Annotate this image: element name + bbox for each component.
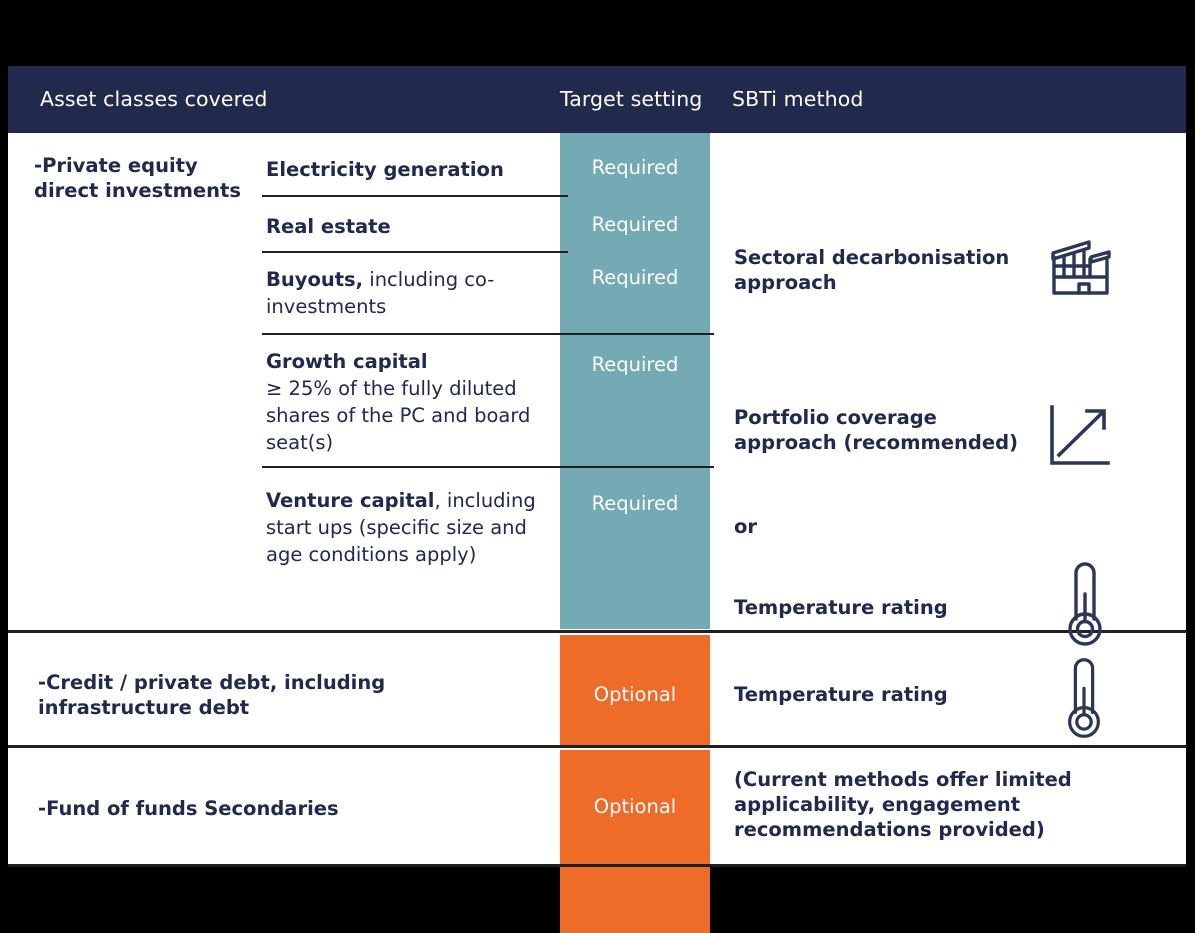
asset-group-fund-of-funds-secondaries: -Fund of funds Secondaries	[38, 796, 558, 821]
asset-group-credit-private-debt: -Credit / private debt, including infras…	[38, 670, 558, 720]
asset-group-credit-private-debt-line1: -Credit / private debt, including	[38, 670, 558, 695]
subrow-label-growth-capital: Growth capital ≥ 25% of the fully dilute…	[266, 348, 566, 456]
group-divider-2	[8, 745, 1186, 748]
sbti-asset-class-table: Asset classes covered Target setting SBT…	[8, 66, 1186, 866]
subrow-divider-buyouts	[262, 333, 714, 335]
table-header-bar: Asset classes covered Target setting SBT…	[8, 66, 1186, 133]
status-fund-of-funds-secondaries: Optional	[560, 795, 710, 818]
subrow-label-venture-capital-bold: Venture capital	[266, 489, 435, 512]
group-divider-1	[8, 630, 1186, 633]
status-venture-capital: Required	[560, 492, 710, 515]
thermometer-icon	[1052, 557, 1122, 651]
subrow-label-electricity-generation-bold: Electricity generation	[266, 158, 504, 181]
column-header-asset-classes: Asset classes covered	[40, 66, 268, 133]
group-divider-3	[8, 864, 1186, 867]
column-header-target-setting: Target setting	[560, 66, 702, 133]
status-buyouts: Required	[560, 266, 710, 289]
building-icon	[1043, 233, 1113, 303]
asset-group-credit-private-debt-line2: infrastructure debt	[38, 695, 558, 720]
method-portfolio-coverage: Portfolio coverage approach (recommended…	[734, 405, 1044, 455]
growth-chart-icon	[1046, 403, 1116, 473]
status-electricity-generation: Required	[560, 156, 710, 179]
subrow-label-electricity-generation: Electricity generation	[266, 156, 556, 183]
subrow-label-growth-capital-rest: ≥ 25% of the fully diluted shares of the…	[266, 375, 566, 456]
method-temperature-rating: Temperature rating	[734, 595, 1044, 620]
subrow-label-growth-capital-bold: Growth capital	[266, 350, 428, 373]
table-body: -Private equity direct investments Elect…	[8, 133, 1186, 866]
method-connector-or: or	[734, 514, 1044, 539]
subrow-label-venture-capital: Venture capital, including start ups (sp…	[266, 487, 566, 568]
status-real-estate: Required	[560, 213, 710, 236]
subrow-label-buyouts-bold: Buyouts,	[266, 268, 363, 291]
subrow-divider-growth-capital	[262, 466, 714, 468]
status-band-optional-secondaries	[560, 750, 710, 933]
column-header-sbti-method: SBTi method	[732, 66, 863, 133]
subrow-label-real-estate: Real estate	[266, 213, 556, 240]
subrow-label-buyouts: Buyouts, including co-investments	[266, 266, 566, 320]
subrow-label-real-estate-bold: Real estate	[266, 215, 391, 238]
method-credit-private-debt: Temperature rating	[734, 682, 1044, 707]
status-growth-capital: Required	[560, 353, 710, 376]
subrow-divider-real-estate	[262, 251, 568, 253]
thermometer-icon	[1052, 653, 1122, 743]
asset-group-fund-of-funds-secondaries-line1: -Fund of funds Secondaries	[38, 796, 558, 821]
status-band-required	[560, 133, 710, 629]
status-credit-private-debt: Optional	[560, 683, 710, 706]
method-sectoral-decarbonisation: Sectoral decarbonisation approach	[734, 245, 1044, 295]
method-fund-of-funds-secondaries: (Current methods offer limited applicabi…	[734, 767, 1084, 842]
